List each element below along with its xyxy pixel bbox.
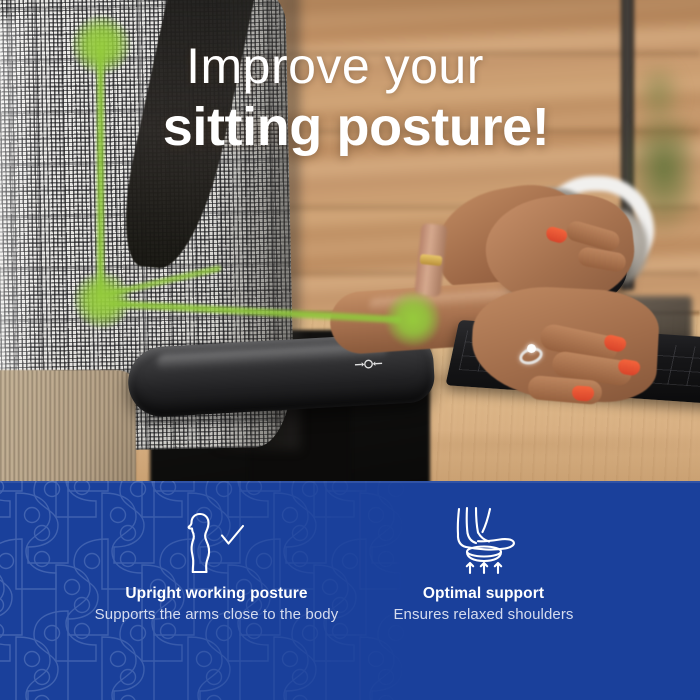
- bracelet-gold-detail: [420, 254, 443, 266]
- fingernail: [572, 385, 595, 401]
- feature-item-upright-posture: Upright working posture Supports the arm…: [94, 501, 339, 624]
- feature-panel: Upright working posture Supports the arm…: [0, 481, 700, 700]
- feature-item-optimal-support: Optimal support Ensures relaxed shoulder…: [361, 501, 606, 624]
- headline-line-1: Improve your: [0, 40, 700, 93]
- product-feature-poster: Improve your sitting posture!: [0, 0, 700, 700]
- upright-posture-check-icon: [94, 501, 339, 579]
- feature-description: Supports the arms close to the body: [94, 605, 339, 624]
- feature-description: Ensures relaxed shoulders: [361, 605, 606, 624]
- feature-title: Upright working posture: [94, 585, 339, 603]
- feature-title: Optimal support: [361, 585, 606, 603]
- arm-support-arrows-icon: [361, 501, 606, 579]
- headline: Improve your sitting posture!: [0, 40, 700, 157]
- hero-photo: Improve your sitting posture!: [0, 0, 700, 481]
- skirt: [0, 370, 136, 481]
- wrist-joint-marker: [386, 292, 440, 346]
- headline-line-2: sitting posture!: [0, 97, 700, 157]
- elbow-joint-marker: [74, 272, 130, 328]
- feature-list: Upright working posture Supports the arm…: [0, 481, 700, 700]
- brand-logo-icon: [351, 356, 386, 372]
